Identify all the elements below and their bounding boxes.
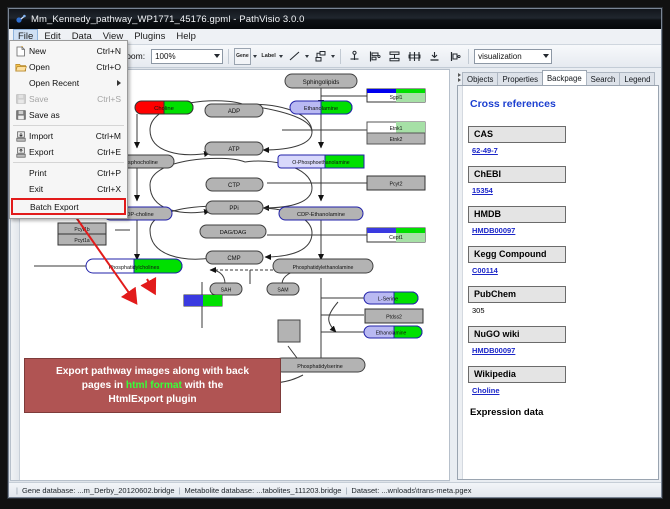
node-ctp[interactable]: CTP <box>206 178 263 191</box>
node-dag[interactable]: DAG/DAG <box>200 225 266 238</box>
backpage-scrollbar[interactable] <box>458 86 463 479</box>
node-cdp-ethanolamine[interactable]: CDP-Ethanolamine <box>279 207 363 220</box>
status-bar: | Gene database: ...m_Derby_20120602.bri… <box>9 482 661 497</box>
align-stack-tool-icon[interactable] <box>386 48 403 65</box>
node-label: Ptdss2 <box>386 315 402 321</box>
xref-hmdb: HMDB HMDB00097 <box>468 204 650 235</box>
node-label: CTP <box>228 183 240 189</box>
menu-item-accel: Ctrl+E <box>97 147 127 157</box>
menu-plugins[interactable]: Plugins <box>129 29 170 44</box>
menu-item-export[interactable]: Export Ctrl+E <box>10 144 127 160</box>
xref-wikipedia: Wikipedia Choline <box>468 364 650 395</box>
annotation-callout: Export pathway images along with back pa… <box>24 358 281 413</box>
chevron-down-icon[interactable] <box>331 55 335 58</box>
menu-item-accel: Ctrl+P <box>97 168 127 178</box>
xref-link[interactable]: Choline <box>472 386 650 395</box>
tab-objects[interactable]: Objects <box>462 72 498 85</box>
node-label: CMP <box>227 256 240 262</box>
node-choline-top[interactable]: Choline <box>135 101 193 114</box>
node-label: ATP <box>228 147 239 153</box>
node-label: Choline <box>154 106 174 112</box>
xref-link[interactable]: 62-49-7 <box>472 146 650 155</box>
callout-line2-pre: pages in <box>82 380 126 391</box>
chevron-down-icon <box>214 54 220 58</box>
xref-label: NuGO wiki <box>468 326 566 343</box>
node-label: Phosphatidylserine <box>297 364 343 370</box>
menu-item-label: Batch Export <box>15 202 124 212</box>
menu-separator <box>13 125 124 126</box>
xref-link[interactable]: HMDB00097 <box>472 226 650 235</box>
zoom-value: 100% <box>155 52 175 61</box>
menu-item-label: Save as <box>29 110 121 120</box>
backpage-content: Cross references CAS 62-49-7 ChEBI 15354… <box>457 85 659 480</box>
menu-item-label: Export <box>29 147 97 157</box>
menu-item-open-recent[interactable]: Open Recent <box>10 75 127 91</box>
menu-item-accel: Ctrl+M <box>96 131 127 141</box>
xref-link[interactable]: HMDB00097 <box>472 346 650 355</box>
new-file-icon <box>12 46 29 57</box>
menu-item-label: Import <box>29 131 96 141</box>
status-metabolite-database: Metabolite database: ...tabolites_111203… <box>185 486 342 495</box>
node-label: Pcyt1a <box>74 238 90 244</box>
shape-tool-group[interactable] <box>312 48 335 65</box>
menu-item-label: Open Recent <box>29 78 117 88</box>
status-divider: | <box>175 486 185 495</box>
node-atp[interactable]: ATP <box>205 142 263 155</box>
gene-cept1[interactable]: Cept1 <box>367 228 425 242</box>
menu-help[interactable]: Help <box>171 29 201 44</box>
screenshot-root: Mm_Kennedy_pathway_WP1771_45176.gpml - P… <box>0 0 670 509</box>
node-label: SAM <box>277 288 288 294</box>
line-tool-group[interactable] <box>286 48 309 65</box>
align-left-tool-icon[interactable] <box>366 48 383 65</box>
node-label: Cept1 <box>389 235 403 241</box>
toolbar-separator <box>468 49 469 64</box>
tab-search[interactable]: Search <box>586 72 621 85</box>
menu-item-new[interactable]: New Ctrl+N <box>10 43 127 59</box>
node-phosphatidylethanolamine[interactable]: Phosphatidylethanolamine <box>273 259 373 273</box>
gene-pcyt1b[interactable]: Pcyt1b <box>58 223 106 234</box>
menu-item-label: Print <box>29 168 97 178</box>
label-tool-label: Label <box>261 53 275 59</box>
side-panel-tabstrip: Objects Properties Backpage Search Legen… <box>451 70 659 85</box>
node-label: Ethanolamine <box>376 331 407 337</box>
node-label: Sphingolipids <box>303 79 340 86</box>
xref-kegg-compound: Kegg Compound C00114 <box>468 244 650 275</box>
menu-item-label: Exit <box>29 184 97 194</box>
xref-nugo-wiki: NuGO wiki HMDB00097 <box>468 324 650 355</box>
xref-pubchem: PubChem 305 <box>468 284 650 315</box>
node-label: PPi <box>229 206 238 212</box>
node-phosphatidylcholines[interactable]: Phosphatidylcholines <box>86 259 182 273</box>
node-label: L-Serine <box>378 297 398 303</box>
gene-ptdss2[interactable]: Ptdss2 <box>365 309 423 323</box>
xref-label: ChEBI <box>468 166 566 183</box>
xref-cas: CAS 62-49-7 <box>468 124 650 155</box>
menu-item-accel: Ctrl+S <box>97 94 127 104</box>
xref-label: CAS <box>468 126 566 143</box>
title-bar: Mm_Kennedy_pathway_WP1771_45176.gpml - P… <box>9 9 661 29</box>
node-label: Etnk2 <box>390 137 403 143</box>
node-cmp[interactable]: CMP <box>206 251 263 264</box>
save-disk-icon <box>12 94 29 104</box>
node-sam[interactable]: SAM <box>267 283 299 295</box>
menu-item-save-as[interactable]: Save as <box>10 107 127 123</box>
export-icon <box>12 147 29 158</box>
node-label: O-Phosphoethanolamine <box>292 160 350 166</box>
anchor-tool-icon[interactable] <box>346 48 363 65</box>
file-menu-dropdown[interactable]: New Ctrl+N Open Ctrl+O Open Recent <box>9 40 128 219</box>
chevron-down-icon[interactable] <box>279 55 283 58</box>
label-tool-icon[interactable]: Label <box>260 48 277 65</box>
tab-properties[interactable]: Properties <box>497 72 543 85</box>
menu-item-accel: Ctrl+N <box>97 46 127 56</box>
tab-backpage[interactable]: Backpage <box>542 70 587 85</box>
gene-chka[interactable] <box>184 295 222 306</box>
node-label: SAH <box>221 288 232 294</box>
status-divider: | <box>12 486 22 495</box>
node-label: Phosphatidylethanolamine <box>293 265 354 271</box>
callout-line2-highlight: html format <box>126 380 182 391</box>
shape-tool-icon[interactable] <box>312 48 329 65</box>
xref-label: Kegg Compound <box>468 246 566 263</box>
node-phosphatidylserine[interactable]: Phosphatidylserine <box>275 358 365 372</box>
status-gene-database: Gene database: ...m_Derby_20120602.bridg… <box>22 486 175 495</box>
node-label: Pcyt2 <box>390 182 403 188</box>
menu-item-save[interactable]: Save Ctrl+S <box>10 91 127 107</box>
xref-chebi: ChEBI 15354 <box>468 164 650 195</box>
datanode-tool-group[interactable]: GeneProduct <box>234 48 257 65</box>
xref-link[interactable]: 15354 <box>472 186 650 195</box>
chevron-down-icon[interactable] <box>305 55 309 58</box>
window-title: Mm_Kennedy_pathway_WP1771_45176.gpml - P… <box>31 14 305 25</box>
menu-item-print[interactable]: Print Ctrl+P <box>10 165 127 181</box>
xref-link[interactable]: C00114 <box>472 266 650 275</box>
node-ethanolamine-top[interactable]: Ethanolamine <box>290 101 352 114</box>
size-tool-icon[interactable] <box>426 48 443 65</box>
gene-pcyt1a[interactable]: Pcyt1a <box>58 234 106 245</box>
submenu-arrow-icon <box>117 80 121 86</box>
distribute-tool-icon[interactable] <box>406 48 423 65</box>
expression-data-heading: Expression data <box>470 407 650 418</box>
node-adp[interactable]: ADP <box>205 104 263 117</box>
node-sah[interactable]: SAH <box>210 283 242 295</box>
chevron-down-icon <box>543 54 549 58</box>
toolbar-separator <box>228 49 229 64</box>
label-tool-group[interactable]: Label <box>260 48 283 65</box>
gene-sgpl1[interactable]: Sgpl1 <box>367 89 425 102</box>
menu-item-accel: Ctrl+O <box>96 62 127 72</box>
line-tool-icon[interactable] <box>286 48 303 65</box>
xref-label: PubChem <box>468 286 566 303</box>
xref-value: 305 <box>472 306 650 315</box>
menu-separator <box>13 162 124 163</box>
menu-item-label: New <box>29 46 97 56</box>
gene-etnk1[interactable]: Etnk1 <box>367 122 425 133</box>
xref-label: HMDB <box>468 206 566 223</box>
datanode-tool-label: GeneProduct <box>236 53 249 59</box>
callout-line3: HtmlExport plugin <box>108 394 196 405</box>
backpage-side-panel: Objects Properties Backpage Search Legen… <box>450 68 661 482</box>
visualization-value: visualization <box>478 52 522 61</box>
xref-label: Wikipedia <box>468 366 566 383</box>
node-label: Phosphatidylcholines <box>109 265 160 271</box>
zoom-combo[interactable]: 100% <box>151 49 223 64</box>
node-o-phosphoethanolamine[interactable]: O-Phosphoethanolamine <box>278 155 364 168</box>
menu-item-accel: Ctrl+X <box>97 184 127 194</box>
status-dataset: Dataset: ...wnloads\trans-meta.pgex <box>351 486 471 495</box>
visualization-combo[interactable]: visualization <box>474 49 552 64</box>
menu-item-label: Open <box>29 62 96 72</box>
node-ppi[interactable]: PPi <box>206 201 263 214</box>
chevron-down-icon[interactable] <box>253 55 257 58</box>
callout-line1: Export pathway images along with back <box>56 366 249 377</box>
open-folder-icon <box>12 62 29 73</box>
node-label: Pcyt1b <box>74 227 90 233</box>
node-label: Etnk1 <box>390 126 403 132</box>
status-divider: | <box>341 486 351 495</box>
menu-item-label: Save <box>29 94 97 104</box>
tab-scroll-arrows[interactable] <box>457 70 462 84</box>
menu-item-exit[interactable]: Exit Ctrl+X <box>10 181 127 197</box>
node-label: Ethanolamine <box>304 106 338 112</box>
gene-box-right[interactable] <box>278 320 300 342</box>
gene-pcyt2[interactable]: Pcyt2 <box>367 176 425 190</box>
node-label: Sgpl1 <box>390 95 403 101</box>
order-tool-icon[interactable] <box>446 48 463 65</box>
node-ethanolamine-right[interactable]: Ethanolamine <box>364 326 422 338</box>
cross-references-heading: Cross references <box>470 98 650 110</box>
tab-legend[interactable]: Legend <box>619 72 655 85</box>
node-label: ADP <box>228 109 240 115</box>
toolbar-separator <box>340 49 341 64</box>
menu-item-batch-export[interactable]: Batch Export <box>11 198 126 215</box>
menu-item-open[interactable]: Open Ctrl+O <box>10 59 127 75</box>
gene-etnk2[interactable]: Etnk2 <box>367 133 425 144</box>
callout-line2-post: with the <box>182 380 223 391</box>
node-sphingolipids[interactable]: Sphingolipids <box>285 74 357 88</box>
node-l-serine[interactable]: L-Serine <box>364 292 418 304</box>
import-icon <box>12 131 29 142</box>
node-label: DAG/DAG <box>220 230 247 236</box>
node-label: CDP-Ethanolamine <box>297 212 345 218</box>
menu-item-import[interactable]: Import Ctrl+M <box>10 128 127 144</box>
save-as-disk-icon <box>12 110 29 120</box>
datanode-tool-icon[interactable]: GeneProduct <box>234 48 251 65</box>
pathvisio-app-icon <box>15 14 26 25</box>
